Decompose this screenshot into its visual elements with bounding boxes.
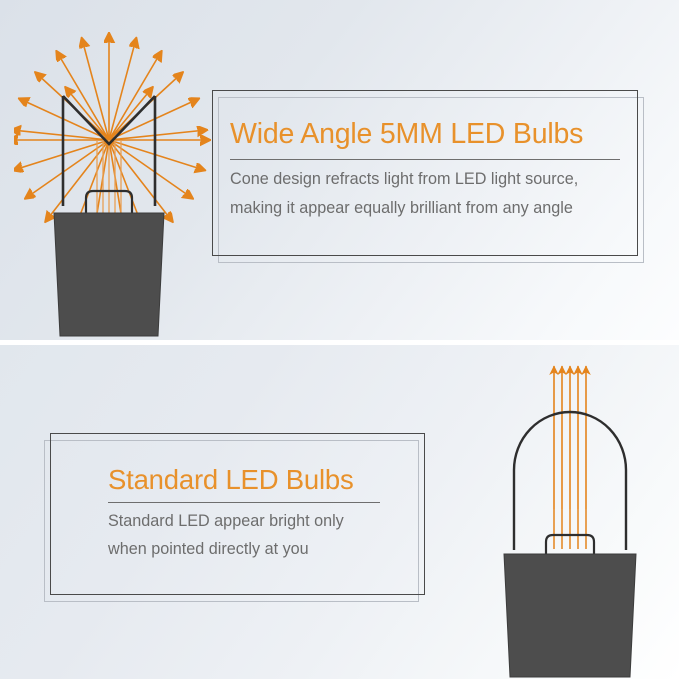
bulb-base xyxy=(504,554,636,677)
infographic-root: Wide Angle 5MM LED Bulbs Cone design ref… xyxy=(0,0,679,679)
card-body-line1-wide-angle: Cone design refracts light from LED ligh… xyxy=(230,169,624,190)
card-body-line2-standard: when pointed directly at you xyxy=(108,539,408,560)
bulb-base xyxy=(54,213,164,336)
card-wide-angle: Wide Angle 5MM LED Bulbs Cone design ref… xyxy=(212,90,644,264)
panel-standard: Standard LED Bulbs Standard LED appear b… xyxy=(0,345,679,679)
card-standard: Standard LED Bulbs Standard LED appear b… xyxy=(50,433,432,603)
card-title-wide-angle: Wide Angle 5MM LED Bulbs xyxy=(230,120,624,149)
card-content: Standard LED Bulbs Standard LED appear b… xyxy=(108,466,408,560)
title-divider-rule xyxy=(108,502,380,503)
panel-wide-angle: Wide Angle 5MM LED Bulbs Cone design ref… xyxy=(0,0,679,340)
card-body-line2-wide-angle: making it appear equally brilliant from … xyxy=(230,198,624,219)
standard-led-bulb-illustration xyxy=(470,357,670,679)
card-title-standard: Standard LED Bulbs xyxy=(108,466,408,494)
parallel-light-rays xyxy=(554,366,586,509)
wide-angle-led-bulb-illustration xyxy=(14,18,224,340)
title-divider-rule xyxy=(230,159,620,160)
card-content: Wide Angle 5MM LED Bulbs Cone design ref… xyxy=(230,120,624,219)
card-body-line1-standard: Standard LED appear bright only xyxy=(108,511,408,532)
internal-light-lines xyxy=(554,509,586,549)
